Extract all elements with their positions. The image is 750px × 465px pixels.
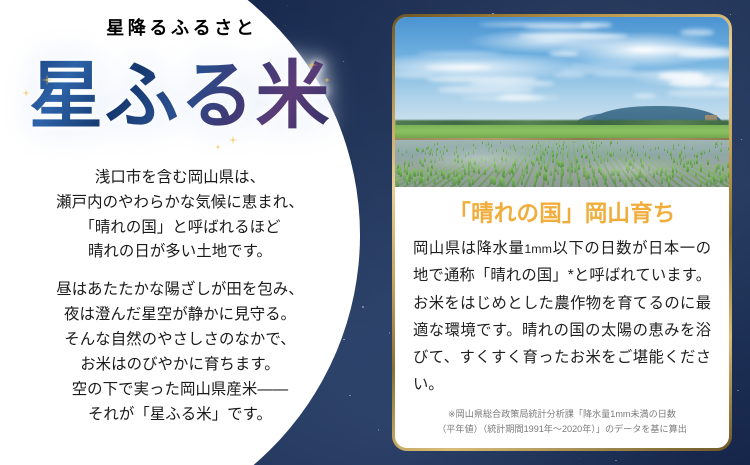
cloud (658, 72, 704, 81)
background-star (741, 139, 742, 140)
info-card: 「晴れの国」岡山育ち 岡山県は降水量1mm以下の日数が日本一の地で通称「晴れの国… (392, 14, 732, 451)
desc-measure: 1mm (524, 242, 552, 256)
paragraph-line: 空の下で実った岡山県産米—— (20, 378, 340, 403)
card-body: 「晴れの国」岡山育ち 岡山県は降水量1mm以下の日数が日本一の地で通称「晴れの国… (395, 187, 729, 399)
cloud (678, 50, 729, 58)
paragraph-line: 瀬戸内のやわらかな気候に恵まれ、 (20, 191, 340, 216)
paragraph-line: そんな自然のやさしさのなかで、 (20, 328, 340, 353)
background-star (362, 306, 364, 308)
paragraph-line: 浅口市を含む岡山県は、 (20, 166, 340, 191)
water-reflection (395, 140, 729, 187)
desc-part-2: 以下の日数が日本一の地で通称「晴れの国」*と呼ばれています。お米をはじめとした農… (413, 240, 711, 393)
paragraph-line: 夜は澄んだ星空が静かに見守る。 (20, 303, 340, 328)
background-star (737, 390, 738, 391)
card-title: 「晴れの国」岡山育ち (413, 199, 711, 228)
paragraph-line: 「晴れの国」と呼ばれるほど (20, 216, 340, 241)
rice-paddy-photo (395, 17, 729, 187)
background-star (579, 458, 580, 459)
paragraph-line: お米はのびやかに育ちます。 (20, 353, 340, 378)
cloud (667, 89, 729, 97)
cloud (427, 76, 537, 83)
cloud (549, 51, 579, 56)
eyebrow-text: 星降るふるさと (0, 18, 360, 40)
left-paragraph-1: 浅口市を含む岡山県は、 瀬戸内のやわらかな気候に恵まれ、 「晴れの国」と呼ばれる… (20, 166, 340, 266)
background-star (389, 332, 391, 334)
paragraph-line: 昼はあたたかな陽ざしが田を包み、 (20, 278, 340, 303)
cloud (425, 65, 491, 70)
brand-logo-text: 星ふる米 (29, 44, 331, 148)
background-star (615, 460, 616, 461)
desc-part-1: 岡山県は降水量 (413, 240, 524, 257)
cloud (571, 63, 636, 66)
cloud (560, 67, 634, 74)
footnote-line: ※岡山県総合政策局統計分析課「降水量1mm未満の日数 (411, 407, 713, 421)
left-content: 星降るふるさと 星ふる米 浅口市を含む岡山県は、 瀬戸内のやわらかな気候に恵まれ… (0, 0, 360, 465)
background-star (730, 14, 731, 15)
footnote-line: （平年値）（統計期間1991年〜2020年）」のデータを基に算出 (411, 422, 713, 436)
paragraph-line: 晴れの日が多い土地です。 (20, 240, 340, 265)
left-paragraph-2: 昼はあたたかな陽ざしが田を包み、 夜は澄んだ星空が静かに見守る。 そんな自然のや… (20, 278, 340, 428)
cloud (417, 52, 501, 55)
brand-logo: 星ふる米 (0, 44, 360, 152)
background-star (378, 429, 380, 431)
promo-banner: 星降るふるさと 星ふる米 浅口市を含む岡山県は、 瀬戸内のやわらかな気候に恵まれ… (0, 0, 750, 465)
card-description: 岡山県は降水量1mm以下の日数が日本一の地で通称「晴れの国」*と呼ばれています。… (413, 235, 711, 398)
cloud (437, 85, 534, 94)
card-footnote: ※岡山県総合政策局統計分析課「降水量1mm未満の日数 （平年値）（統計期間199… (395, 407, 729, 436)
paragraph-line: それが「星ふる米」です。 (20, 403, 340, 428)
